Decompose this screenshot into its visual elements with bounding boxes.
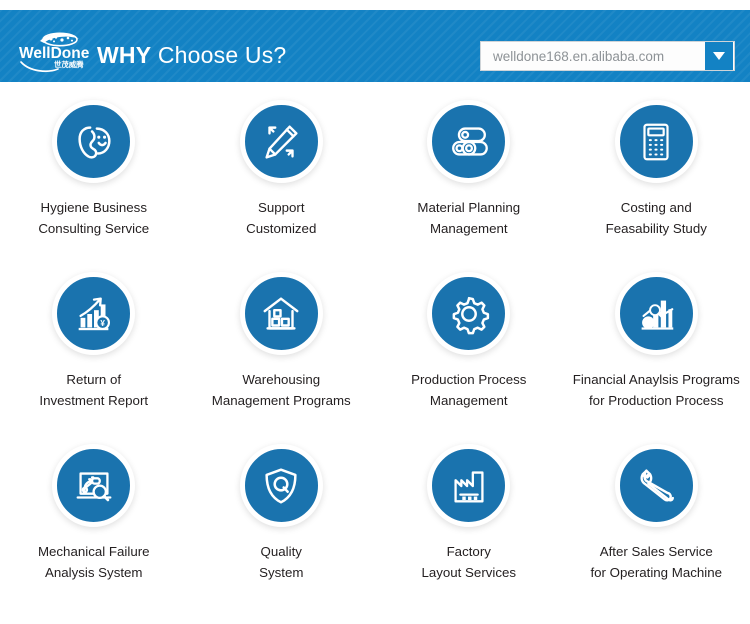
feature-icon-circle: ¥ xyxy=(52,272,135,355)
feature-grid: Hygiene Business Consulting Service Supp… xyxy=(0,88,750,604)
wrench-screwdriver-icon xyxy=(633,463,679,509)
svg-text:¥: ¥ xyxy=(100,318,105,327)
page-title: WHY Choose Us? xyxy=(97,42,286,69)
url-input[interactable]: welldone168.en.alibaba.com xyxy=(481,49,705,64)
feature-label: Mechanical Failure Analysis System xyxy=(38,541,150,583)
feature-item[interactable]: Production Process Management xyxy=(375,260,563,432)
feature-item[interactable]: ¥ Return of Investment Report xyxy=(0,260,188,432)
feature-label: Costing and Feasability Study xyxy=(606,197,707,239)
feature-label: After Sales Service for Operating Machin… xyxy=(590,541,722,583)
feature-item[interactable]: Mechanical Failure Analysis System xyxy=(0,432,188,604)
shield-q-icon xyxy=(258,463,304,509)
feature-label: Quality System xyxy=(259,541,303,583)
url-dropdown-button[interactable] xyxy=(705,42,733,70)
title-choose-us: Choose Us? xyxy=(151,42,286,68)
feature-item[interactable]: After Sales Service for Operating Machin… xyxy=(563,432,750,604)
feature-item[interactable]: Quality System xyxy=(188,432,376,604)
chevron-down-icon xyxy=(713,52,725,60)
phone-smile-icon xyxy=(71,119,117,165)
why-choose-us-banner: WellDone 世茂威腾 WHY Choose Us? welldone168… xyxy=(0,0,750,624)
pencil-design-icon xyxy=(258,119,304,165)
feature-label: Production Process Management xyxy=(411,369,526,411)
welldone-logo: WellDone 世茂威腾 xyxy=(18,28,98,74)
feature-icon-circle xyxy=(240,444,323,527)
warehouse-boxes-icon xyxy=(258,291,304,337)
feature-icon-circle xyxy=(52,100,135,183)
feature-label: Support Customized xyxy=(246,197,316,239)
feature-label: Return of Investment Report xyxy=(39,369,148,411)
feature-item[interactable]: Hygiene Business Consulting Service xyxy=(0,88,188,260)
feature-icon-circle xyxy=(615,100,698,183)
feature-icon-circle xyxy=(52,444,135,527)
financial-analysis-icon xyxy=(633,291,679,337)
feature-icon-circle xyxy=(615,272,698,355)
feature-label: Warehousing Management Programs xyxy=(212,369,351,411)
feature-item[interactable]: Material Planning Management xyxy=(375,88,563,260)
feature-item[interactable]: Warehousing Management Programs xyxy=(188,260,376,432)
url-bar[interactable]: welldone168.en.alibaba.com xyxy=(480,41,735,71)
feature-label: Factory Layout Services xyxy=(421,541,516,583)
feature-label: Material Planning Management xyxy=(417,197,520,239)
material-rolls-icon xyxy=(446,119,492,165)
gear-icon xyxy=(446,291,492,337)
feature-icon-circle xyxy=(427,444,510,527)
feature-icon-circle xyxy=(427,272,510,355)
feature-label: Financial Anaylsis Programs for Producti… xyxy=(573,369,740,411)
calculator-icon xyxy=(633,119,679,165)
feature-icon-circle xyxy=(615,444,698,527)
feature-item[interactable]: Factory Layout Services xyxy=(375,432,563,604)
feature-icon-circle xyxy=(240,100,323,183)
logo-brand-text-cn: 世茂威腾 xyxy=(54,60,84,69)
header-band: WellDone 世茂威腾 WHY Choose Us? welldone168… xyxy=(0,10,750,82)
factory-icon xyxy=(446,463,492,509)
feature-item[interactable]: Financial Anaylsis Programs for Producti… xyxy=(563,260,750,432)
feature-label: Hygiene Business Consulting Service xyxy=(38,197,149,239)
feature-item[interactable]: Support Customized xyxy=(188,88,376,260)
monitor-robot-search-icon xyxy=(71,463,117,509)
growth-chart-coin-icon: ¥ xyxy=(71,291,117,337)
feature-icon-circle xyxy=(240,272,323,355)
feature-icon-circle xyxy=(427,100,510,183)
title-why: WHY xyxy=(97,42,151,68)
feature-item[interactable]: Costing and Feasability Study xyxy=(563,88,750,260)
